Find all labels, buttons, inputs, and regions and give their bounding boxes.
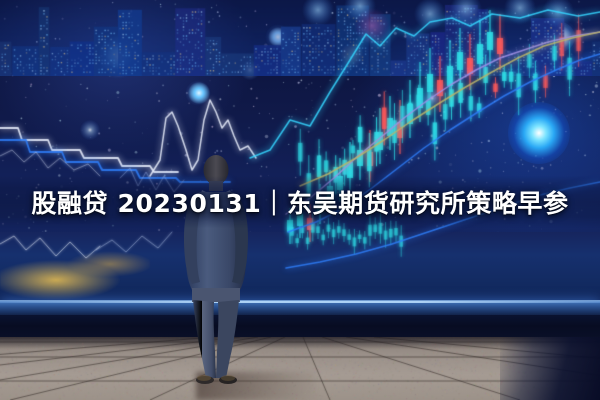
financial-chart-overlay: [0, 0, 600, 320]
railing-shadow: [0, 315, 600, 339]
floor-dark-corner: [500, 337, 600, 400]
railing-highlight: [0, 301, 600, 303]
promo-banner: 股融贷 20230131｜东吴期货研究所策略早参: [0, 0, 600, 400]
page-title: 股融贷 20230131｜东吴期货研究所策略早参: [0, 183, 600, 221]
